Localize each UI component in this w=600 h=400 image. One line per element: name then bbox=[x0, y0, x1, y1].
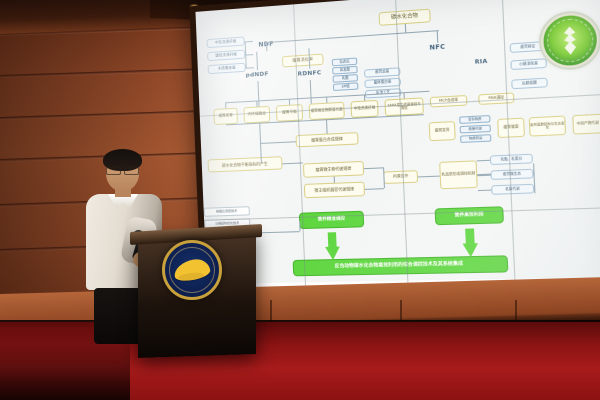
flow-connector bbox=[403, 92, 404, 98]
screenshot-scene: 碳水化合物NDFNFC中性洗涤纤维酸性洗涤纤维木质素含量pdNDF瘤胃消化率RD… bbox=[0, 0, 600, 400]
flow-connector bbox=[418, 176, 440, 178]
flow-connector bbox=[246, 67, 254, 69]
flow-node-m5: 中性洗涤纤维 bbox=[350, 100, 378, 118]
flow-node-s1: 中性洗涤纤维 bbox=[207, 36, 245, 48]
flow-node-t4: 瘤胃菌群结构与生态变化 bbox=[529, 116, 566, 137]
flow-node-m6: SARA发生代谢途径与调控 bbox=[384, 97, 424, 116]
flow-node-t2b: 能量代谢 bbox=[460, 125, 491, 134]
university-emblem bbox=[162, 240, 222, 300]
flow-node-m4: 瘤胃微生物群落代谢 bbox=[309, 102, 345, 120]
flow-connector bbox=[477, 160, 490, 162]
flow-node-c2: 菌体蛋白量 bbox=[364, 78, 401, 88]
glasses-icon bbox=[106, 167, 139, 173]
flow-node-l1: 精粗比调控技术 bbox=[204, 206, 250, 217]
flow-node-nfc: NFC bbox=[423, 42, 452, 55]
flow-node-t5: 中间产物代谢 bbox=[572, 114, 600, 135]
flow-node-m2: 内环境稳态 bbox=[243, 106, 270, 124]
flow-connector bbox=[266, 30, 439, 43]
flow-node-c1: 瘤胃总量 bbox=[364, 67, 401, 78]
flow-node-r3: 后肠发酵 bbox=[511, 78, 548, 90]
flow-connector bbox=[310, 80, 312, 104]
flow-node-b4: pH值 bbox=[333, 82, 359, 91]
flow-connector bbox=[289, 99, 290, 105]
flow-node-s2: 酸性洗涤纤维 bbox=[207, 50, 245, 62]
flow-node-p3: 乳腺代谢 bbox=[491, 184, 534, 195]
flow-connector bbox=[245, 41, 253, 43]
flow-node-ria: RIA bbox=[468, 56, 495, 69]
flow-node-m1: 瘤胃发育 bbox=[213, 108, 238, 125]
flow-node-b3: 乳酸 bbox=[333, 74, 359, 83]
flow-node-rate: 瘤胃消化率 bbox=[282, 54, 324, 68]
flow-connector bbox=[326, 119, 328, 133]
flow-connector bbox=[365, 188, 384, 190]
flow-node-p2: 瘤胃微生态 bbox=[490, 169, 533, 180]
flow-connector bbox=[437, 30, 439, 43]
flow-connector bbox=[477, 175, 490, 177]
flow-node-t1: 瘤胃发育 bbox=[429, 121, 456, 141]
flow-node-t2a: 营养物质 bbox=[459, 115, 490, 124]
green-arrow-head bbox=[325, 247, 340, 261]
flow-connector bbox=[533, 163, 535, 193]
flow-connector bbox=[245, 54, 253, 56]
foreground-shadow bbox=[0, 330, 130, 400]
flow-connector bbox=[225, 102, 226, 108]
flow-connector bbox=[260, 141, 296, 144]
flow-connector bbox=[334, 177, 335, 183]
flow-node-p1: 乳脂、乳蛋白 bbox=[490, 154, 533, 165]
green-arrow-stem bbox=[328, 232, 337, 247]
flow-node-ru_meta: 瘤胃微生物代谢规律 bbox=[303, 161, 364, 178]
flow-node-t3: 瘤胃健康 bbox=[497, 118, 525, 139]
flow-node-milk: 乳品质形成调控机制 bbox=[439, 160, 478, 189]
flow-node-g1: 营养精准调控 bbox=[299, 211, 364, 229]
flow-node-host_meta: 宿主组织器官代谢规律 bbox=[304, 182, 365, 199]
flow-connector bbox=[405, 24, 406, 32]
flow-node-s3: 木质素含量 bbox=[208, 63, 246, 74]
green-arrow-stem bbox=[465, 228, 475, 243]
flow-connector bbox=[364, 167, 383, 169]
flow-node-inter: 内源互作 bbox=[383, 170, 418, 184]
flow-node-m3: 瘤胃平衡 bbox=[276, 104, 303, 122]
flow-connector bbox=[478, 190, 491, 192]
flow-connector bbox=[326, 97, 327, 103]
flow-node-carb_bal: 碳水化合物平衡指标的产生 bbox=[208, 156, 283, 172]
flow-connector bbox=[364, 94, 365, 100]
flow-connector bbox=[256, 52, 258, 70]
flow-node-mid1: 瘤胃蛋白合成规律 bbox=[296, 132, 359, 147]
flow-node-r2: 小肠消化量 bbox=[510, 58, 547, 70]
flow-connector bbox=[256, 100, 257, 106]
flow-node-g2: 营养高效利用 bbox=[435, 206, 504, 225]
flow-connector bbox=[257, 81, 259, 100]
green-arrow-head bbox=[462, 243, 478, 257]
flow-node-t2c: 物质转运 bbox=[460, 134, 491, 143]
video-wall-display: 碳水化合物NDFNFC中性洗涤纤维酸性洗涤纤维木质素含量pdNDF瘤胃消化率RD… bbox=[195, 0, 600, 324]
